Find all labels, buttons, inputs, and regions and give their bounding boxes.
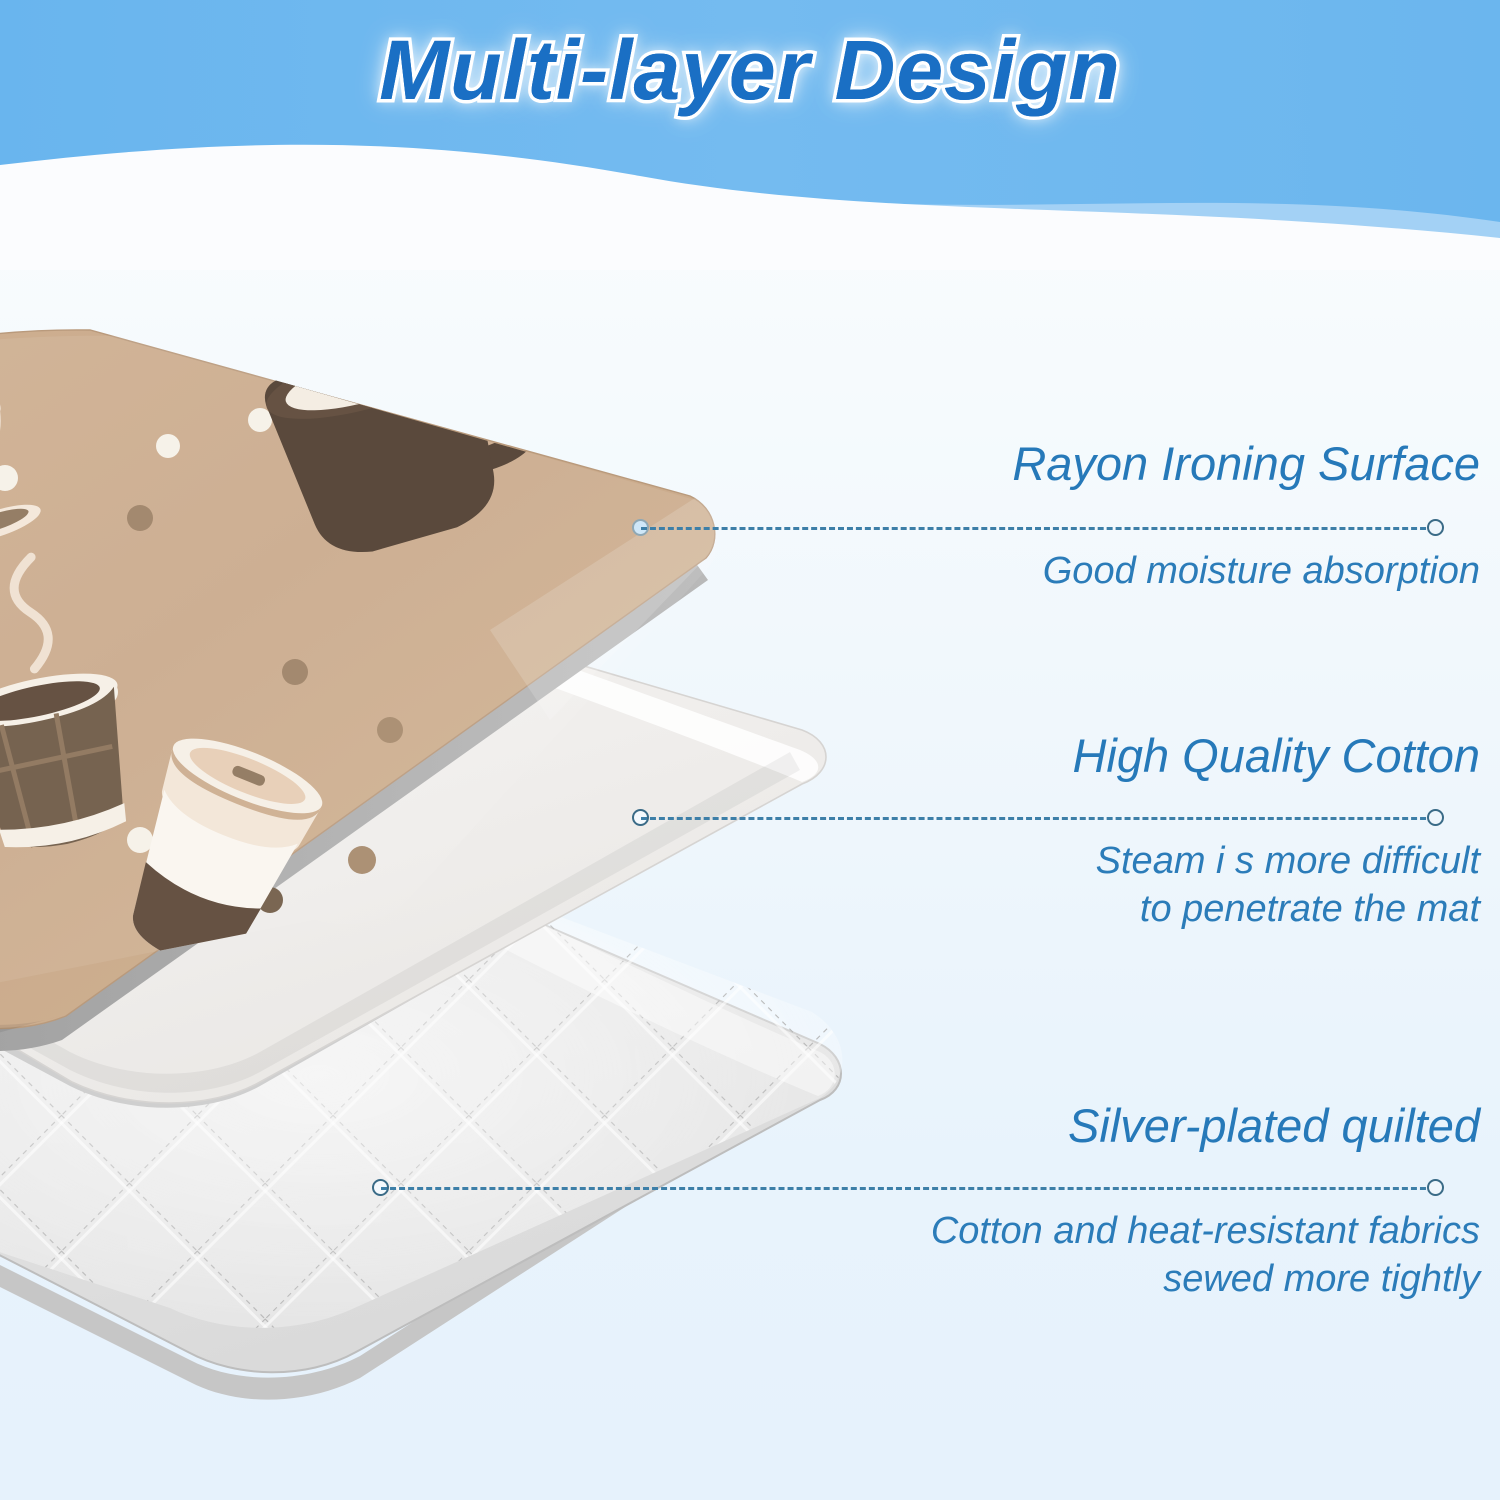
callout-subtitle-quilted-line2: sewed more tightly: [700, 1256, 1480, 1304]
callout-subtitle-quilted-line1: Cotton and heat-resistant fabrics: [700, 1208, 1480, 1256]
callout-quilted-sub: Cotton and heat-resistant fabrics sewed …: [700, 1208, 1480, 1303]
callout-rayon: Rayon Ironing Surface: [820, 440, 1480, 489]
leader-dot-end-rayon: [1427, 519, 1444, 536]
infographic-canvas: Multi-layer Design Multi-layer Design: [0, 0, 1500, 1500]
header-banner: Multi-layer Design Multi-layer Design: [0, 0, 1500, 270]
callout-cotton-sub: Steam i s more difficult to penetrate th…: [820, 838, 1480, 933]
callout-subtitle-cotton-line2: to penetrate the mat: [820, 886, 1480, 934]
callout-title-quilted: Silver-plated quilted: [760, 1102, 1480, 1151]
leader-line-quilted: [372, 1178, 1444, 1198]
leader-line-rayon: [632, 518, 1444, 538]
leader-line-cotton: [632, 808, 1444, 828]
callout-rayon-sub: Good moisture absorption: [820, 548, 1480, 596]
callout-cotton: High Quality Cotton: [820, 732, 1480, 781]
callout-title-rayon: Rayon Ironing Surface: [820, 440, 1480, 489]
leader-dash-cotton: [641, 817, 1435, 820]
leader-dash-rayon: [641, 527, 1435, 530]
leader-dash-quilted: [381, 1187, 1435, 1190]
page-title: Multi-layer Design: [0, 22, 1500, 119]
leader-dot-end-quilted: [1427, 1179, 1444, 1196]
leader-dot-end-cotton: [1427, 809, 1444, 826]
callout-quilted: Silver-plated quilted: [760, 1102, 1480, 1151]
callout-title-cotton: High Quality Cotton: [820, 732, 1480, 781]
callout-subtitle-cotton-line1: Steam i s more difficult: [820, 838, 1480, 886]
callout-subtitle-rayon-line1: Good moisture absorption: [820, 548, 1480, 596]
